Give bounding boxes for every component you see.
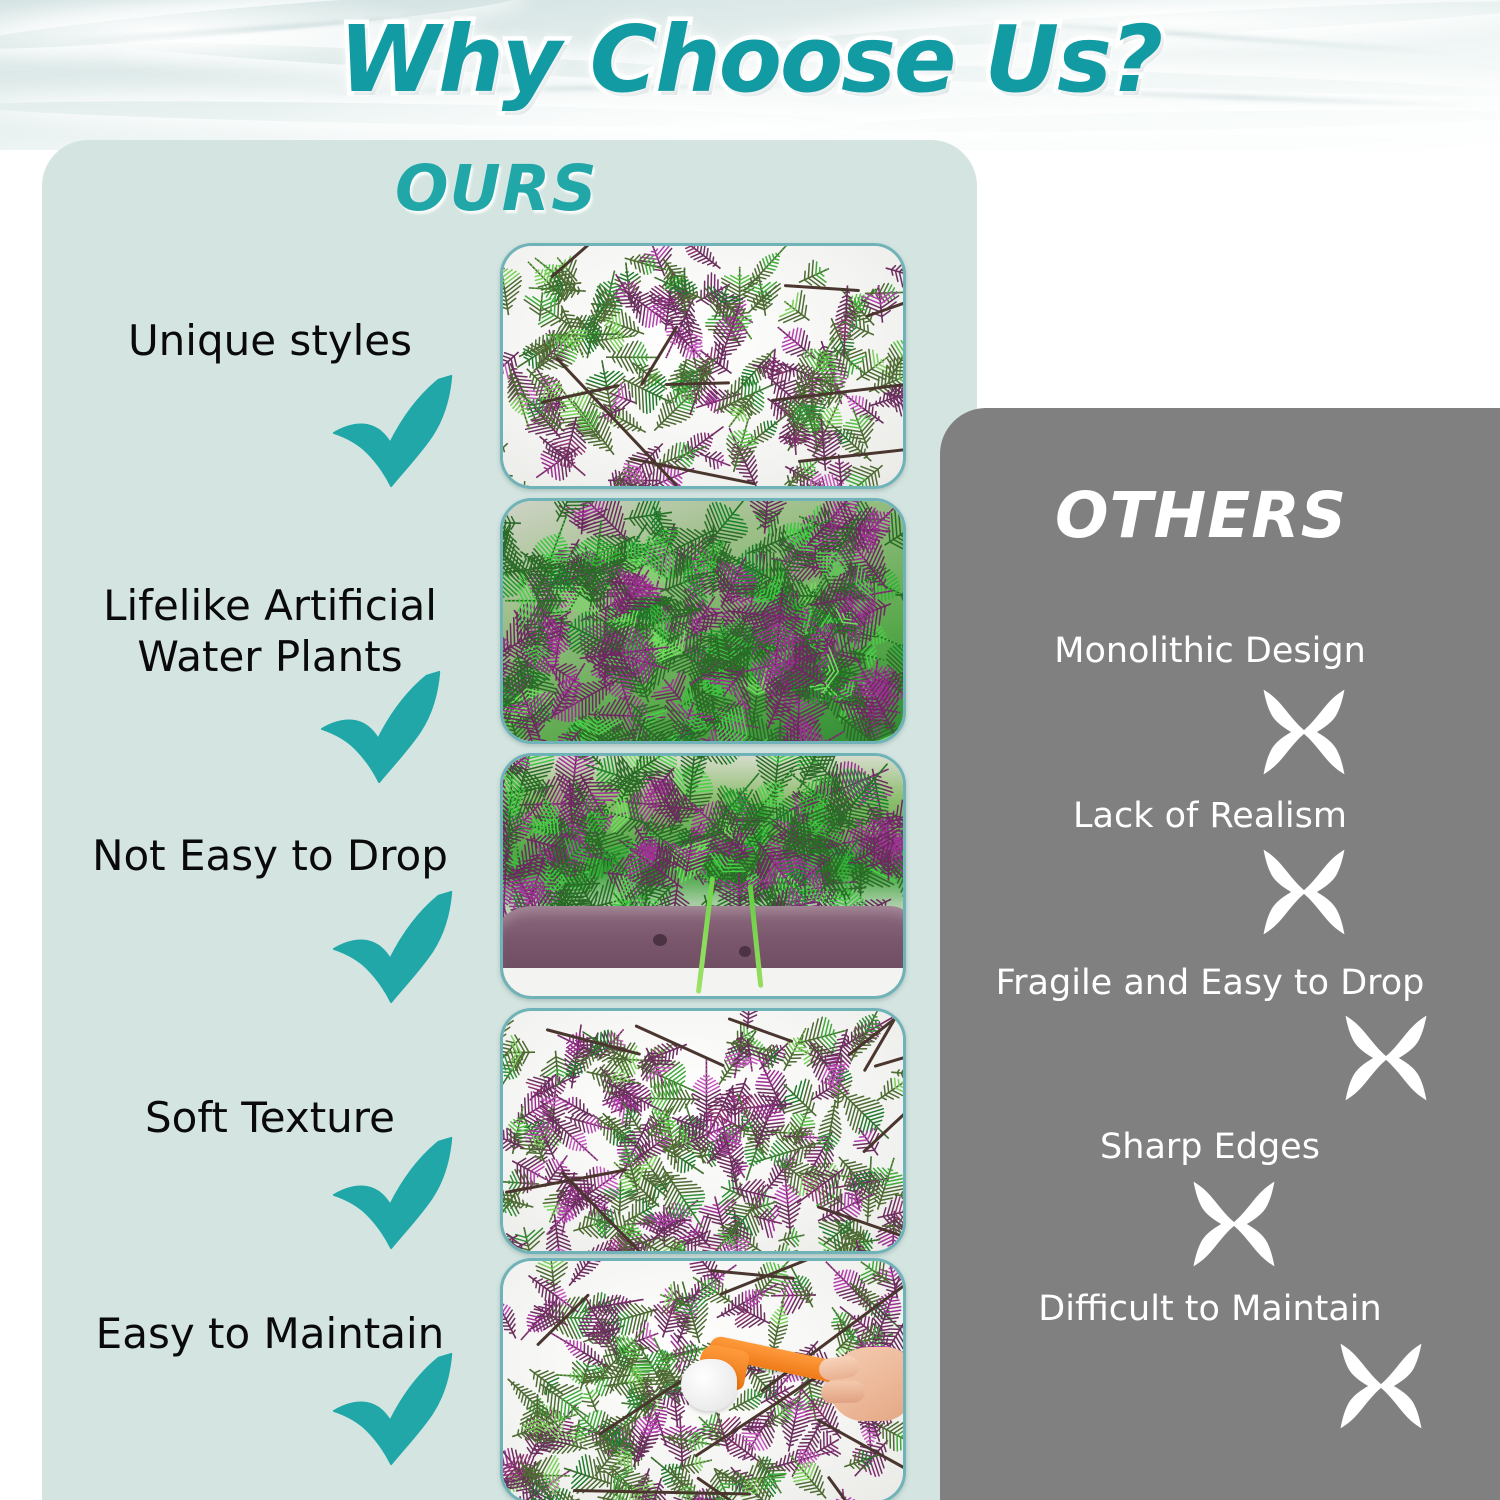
infographic-canvas: Why Choose Us? OURS OTHERS Unique styles… (0, 0, 1500, 1500)
others-item-label: Sharp Edges (970, 1126, 1450, 1168)
cross-icon (1188, 1178, 1280, 1270)
check-icon (330, 888, 468, 1006)
check-icon (318, 668, 456, 786)
product-photo (500, 243, 906, 489)
others-item-1: Lack of Realism (970, 795, 1450, 837)
others-panel (940, 408, 1500, 1500)
product-photo (500, 1258, 906, 1500)
others-item-2: Fragile and Easy to Drop (970, 962, 1450, 1004)
check-icon (330, 1350, 468, 1468)
others-heading: OTHERS (1055, 484, 1415, 547)
product-photo (500, 753, 906, 999)
ours-heading: OURS (395, 157, 695, 220)
product-photo (500, 1008, 906, 1254)
ours-item-1: Lifelike ArtificialWater Plants (70, 580, 470, 682)
ours-item-label: Unique styles (70, 315, 470, 366)
ours-item-2: Not Easy to Drop (70, 830, 470, 881)
check-icon (330, 372, 468, 490)
ours-item-label: Not Easy to Drop (70, 830, 470, 881)
check-icon (330, 1134, 468, 1252)
product-photo (500, 498, 906, 744)
others-item-label: Fragile and Easy to Drop (970, 962, 1450, 1004)
others-item-0: Monolithic Design (970, 630, 1450, 672)
others-item-label: Difficult to Maintain (970, 1288, 1450, 1330)
cross-icon (1335, 1340, 1427, 1432)
others-item-label: Monolithic Design (970, 630, 1450, 672)
others-item-label: Lack of Realism (970, 795, 1450, 837)
ours-item-label: Lifelike ArtificialWater Plants (70, 580, 470, 682)
ours-item-0: Unique styles (70, 315, 470, 366)
cross-icon (1340, 1012, 1432, 1104)
page-title: Why Choose Us? (0, 14, 1500, 106)
others-item-3: Sharp Edges (970, 1126, 1450, 1168)
others-item-4: Difficult to Maintain (970, 1288, 1450, 1330)
cross-icon (1258, 686, 1350, 778)
cross-icon (1258, 846, 1350, 938)
